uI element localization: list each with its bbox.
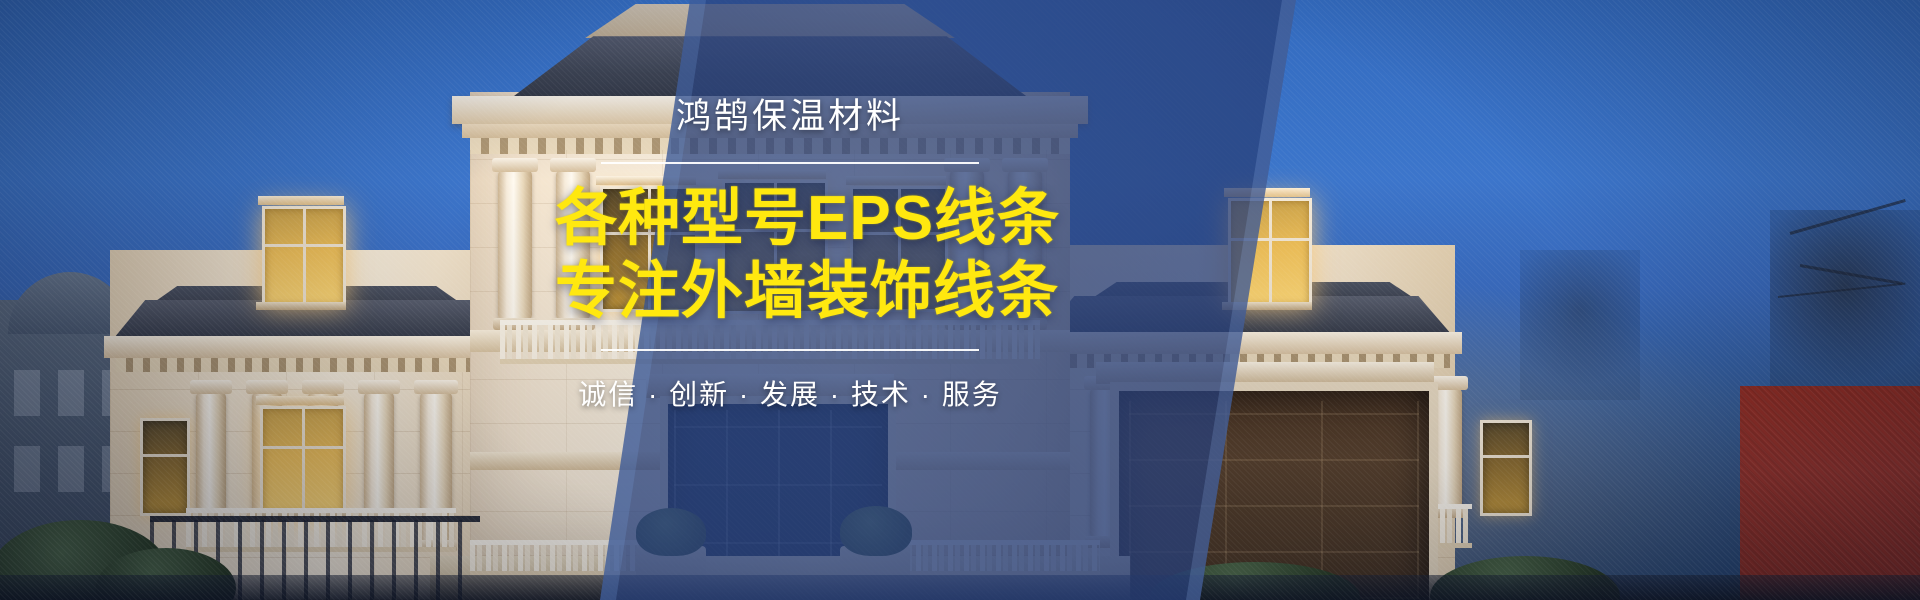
window-head: [256, 396, 344, 405]
shrub: [636, 508, 706, 556]
villa-right-cornice: [1048, 332, 1462, 354]
banner-root: 鸿鹄保温材料 各种型号EPS线条 专注外墙装饰线条 诚信 · 创新 · 发展 ·…: [0, 0, 1920, 600]
terrace-balustrade: [470, 540, 650, 576]
window-sill: [1222, 302, 1312, 310]
column: [196, 392, 226, 512]
villa-center-cornice: [452, 96, 1088, 124]
column: [556, 170, 590, 320]
red-wall: [1740, 386, 1920, 600]
terrace-balustrade: [900, 540, 1100, 576]
balustrade: [500, 320, 1040, 364]
window: [1480, 420, 1532, 516]
background-window: [58, 370, 84, 416]
window-head: [258, 196, 344, 205]
window: [850, 186, 948, 312]
window: [140, 418, 190, 516]
garage-lintel: [1096, 362, 1434, 384]
column: [498, 170, 532, 320]
window-sill: [256, 302, 346, 310]
window-head: [846, 176, 946, 185]
villa-center-cornice-lower: [462, 124, 1078, 138]
background-window: [14, 446, 40, 492]
villa-left-cornice: [104, 336, 500, 358]
window: [1228, 198, 1312, 308]
column: [950, 170, 984, 320]
background-window: [58, 446, 84, 492]
shrub: [840, 506, 912, 556]
window-head: [718, 170, 826, 179]
window: [722, 180, 828, 314]
window: [262, 206, 346, 308]
background-window: [14, 370, 40, 416]
tree: [1520, 250, 1640, 400]
entrance-lintel: [646, 374, 894, 398]
window: [600, 186, 698, 312]
window: [260, 406, 346, 516]
tree: [1770, 210, 1920, 400]
ground-strip: [0, 575, 1920, 600]
villa-left-dentils: [116, 358, 488, 372]
column: [364, 392, 394, 512]
window-head: [596, 176, 696, 185]
column: [1008, 170, 1042, 320]
window-head: [1224, 188, 1310, 197]
